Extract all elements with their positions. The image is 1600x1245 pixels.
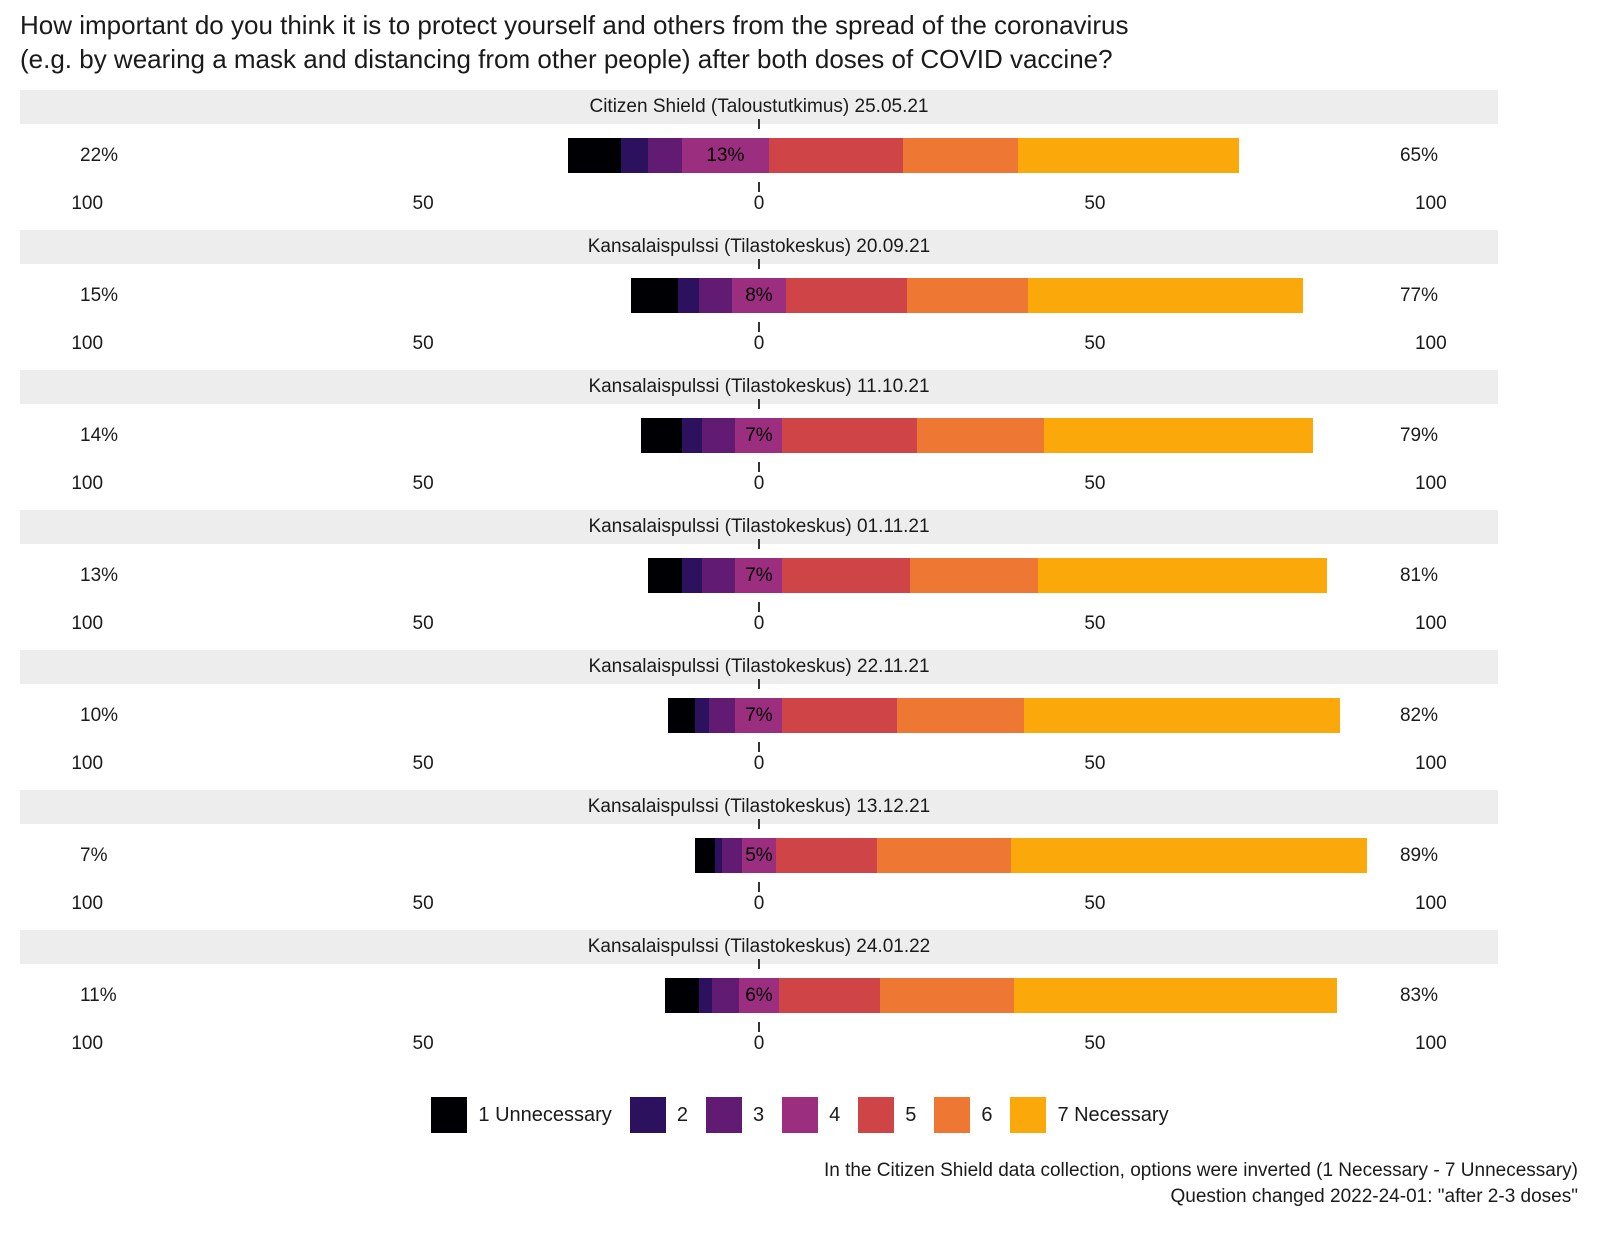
left-total-label: 10% [80,684,118,747]
bar-segment-label: 7% [735,558,782,593]
axis-tick-label: 0 [754,193,765,215]
bar-segment[interactable]: 7% [735,558,782,593]
legend-label: 5 [905,1104,916,1127]
bar-segment[interactable] [782,698,896,733]
footnote-line-1: In the Citizen Shield data collection, o… [18,1158,1578,1184]
bar-segment[interactable] [1044,418,1313,453]
bar-segment[interactable] [776,838,877,873]
legend-swatch [858,1097,894,1133]
bar-segment[interactable] [682,418,702,453]
bar-segment[interactable]: 13% [682,138,769,173]
legend-item[interactable]: 4 [782,1097,840,1133]
legend-swatch [630,1097,666,1133]
bar-segment[interactable] [568,138,622,173]
legend-label: 7 Necessary [1057,1104,1168,1127]
stacked-bar[interactable]: 5% [695,838,1367,873]
stacked-bar[interactable]: 7% [648,558,1326,593]
axis-tick-label: 50 [1084,1033,1105,1055]
axis-tick-label: 50 [413,333,434,355]
chart-root: How important do you think it is to prot… [0,0,1600,1245]
legend-label: 3 [753,1104,764,1127]
bar-segment[interactable] [907,278,1028,313]
left-total-label: 13% [80,544,118,607]
axis-tick-label: 100 [1415,333,1447,355]
bar-segment[interactable] [722,838,742,873]
axis-tick-label: 0 [754,333,765,355]
stacked-bar[interactable]: 7% [668,698,1340,733]
panel-plot-area: 5%7%89% [20,824,1498,887]
bar-segment[interactable] [910,558,1038,593]
bar-segment[interactable] [641,418,681,453]
panel-x-axis: 10050050100 [20,1027,1498,1067]
axis-tick-label: 100 [1415,473,1447,495]
axis-tick-label: 100 [1415,753,1447,775]
axis-tick-label: 50 [1084,893,1105,915]
bar-segment[interactable] [1028,278,1303,313]
bar-segment[interactable] [769,138,903,173]
panel-plot-area: 7%14%79% [20,404,1498,467]
axis-tick-label: 50 [413,613,434,635]
legend-label: 2 [677,1104,688,1127]
bar-segment[interactable] [1011,838,1367,873]
left-total-label: 14% [80,404,118,467]
panel-x-axis: 10050050100 [20,187,1498,227]
panel-list: Citizen Shield (Taloustutkimus) 25.05.21… [0,90,1600,1070]
axis-tick-label: 100 [1415,193,1447,215]
bar-segment-label: 7% [735,418,782,453]
page-title: How important do you think it is to prot… [20,8,1580,76]
panel-x-axis: 10050050100 [20,467,1498,507]
bar-segment[interactable] [631,278,678,313]
panel-x-axis: 10050050100 [20,887,1498,927]
bar-segment[interactable] [1038,558,1327,593]
bar-segment[interactable] [695,838,715,873]
axis-tick-label: 50 [413,473,434,495]
legend-item[interactable]: 6 [934,1097,992,1133]
bar-segment[interactable] [712,978,739,1013]
axis-tick-label: 100 [71,753,103,775]
bar-segment[interactable] [621,138,648,173]
axis-tick-label: 0 [754,613,765,635]
panel-x-axis: 10050050100 [20,327,1498,367]
zero-tick-top [758,819,760,829]
bar-segment[interactable] [897,698,1025,733]
bar-segment[interactable] [648,138,682,173]
panel-plot-area: 8%15%77% [20,264,1498,327]
right-total-label: 77% [1400,264,1438,327]
stacked-bar[interactable]: 6% [665,978,1337,1013]
bar-segment-label: 8% [732,278,786,313]
bar-segment[interactable] [877,838,1011,873]
legend-swatch [431,1097,467,1133]
bar-segment-label: 6% [739,978,779,1013]
legend-label: 6 [981,1104,992,1127]
axis-tick-label: 100 [71,333,103,355]
right-total-label: 83% [1400,964,1438,1027]
bar-segment[interactable] [786,278,907,313]
bar-segment[interactable] [695,698,708,733]
panel-plot-area: 13%22%65% [20,124,1498,187]
legend-item[interactable]: 2 [630,1097,688,1133]
bar-segment[interactable] [1014,978,1336,1013]
bar-segment-label: 5% [742,838,776,873]
legend-swatch [782,1097,818,1133]
legend-item[interactable]: 5 [858,1097,916,1133]
bar-segment[interactable]: 7% [735,698,782,733]
bar-segment-label: 7% [735,698,782,733]
legend-swatch [1010,1097,1046,1133]
zero-tick-top [758,959,760,969]
bar-segment[interactable] [782,558,910,593]
bar-segment[interactable] [917,418,1045,453]
bar-segment[interactable] [682,558,702,593]
axis-tick-label: 50 [1084,613,1105,635]
legend-label: 1 Unnecessary [478,1104,611,1127]
bar-segment[interactable] [715,838,722,873]
axis-tick-label: 100 [1415,893,1447,915]
right-total-label: 65% [1400,124,1438,187]
axis-tick-label: 50 [1084,753,1105,775]
zero-tick-top [758,679,760,689]
axis-tick-label: 100 [71,193,103,215]
zero-tick-top [758,259,760,269]
panel-x-axis: 10050050100 [20,747,1498,787]
stacked-bar[interactable]: 13% [568,138,1240,173]
axis-tick-label: 0 [754,1033,765,1055]
bar-segment[interactable]: 7% [735,418,782,453]
axis-tick-label: 50 [413,193,434,215]
axis-tick-label: 100 [71,473,103,495]
bar-segment[interactable] [782,418,916,453]
axis-tick-label: 100 [71,893,103,915]
axis-tick-label: 100 [71,1033,103,1055]
bar-segment[interactable] [779,978,880,1013]
zero-tick-top [758,399,760,409]
legend-item[interactable]: 1 Unnecessary [431,1097,611,1133]
bar-segment[interactable] [880,978,1014,1013]
bar-segment[interactable] [702,418,736,453]
axis-tick-label: 50 [1084,473,1105,495]
stacked-bar[interactable]: 7% [641,418,1313,453]
bar-segment[interactable] [699,978,712,1013]
axis-tick-label: 50 [413,1033,434,1055]
axis-tick-label: 50 [1084,333,1105,355]
legend-item[interactable]: 3 [706,1097,764,1133]
axis-tick-label: 0 [754,753,765,775]
bar-segment[interactable]: 6% [739,978,779,1013]
panel-plot-area: 6%11%83% [20,964,1498,1027]
right-total-label: 82% [1400,684,1438,747]
right-total-label: 89% [1400,824,1438,887]
axis-tick-label: 50 [413,753,434,775]
chart-panel: Kansalaispulssi (Tilastokeskus) 22.11.21… [0,650,1600,790]
chart-panel: Citizen Shield (Taloustutkimus) 25.05.21… [0,90,1600,230]
panel-plot-area: 7%13%81% [20,544,1498,607]
left-total-label: 22% [80,124,118,187]
bar-segment[interactable] [702,558,736,593]
footnote-line-2: Question changed 2022-24-01: "after 2-3 … [18,1184,1578,1210]
bar-segment-label: 13% [682,138,769,173]
zero-tick-top [758,119,760,129]
axis-tick-label: 100 [71,613,103,635]
stacked-bar[interactable]: 8% [631,278,1303,313]
chart-legend: 1 Unnecessary234567 Necessary [0,1092,1600,1138]
axis-tick-label: 100 [1415,1033,1447,1055]
bar-segment[interactable]: 8% [732,278,786,313]
legend-swatch [706,1097,742,1133]
bar-segment[interactable] [648,558,682,593]
legend-label: 4 [829,1104,840,1127]
axis-tick-label: 0 [754,893,765,915]
left-total-label: 11% [80,964,117,1027]
chart-panel: Kansalaispulssi (Tilastokeskus) 20.09.21… [0,230,1600,370]
right-total-label: 81% [1400,544,1438,607]
bar-segment[interactable] [668,698,695,733]
axis-tick-label: 50 [1084,193,1105,215]
bar-segment[interactable] [1024,698,1340,733]
chart-panel: Kansalaispulssi (Tilastokeskus) 24.01.22… [0,930,1600,1070]
left-total-label: 15% [80,264,118,327]
axis-tick-label: 50 [413,893,434,915]
chart-panel: Kansalaispulssi (Tilastokeskus) 11.10.21… [0,370,1600,510]
chart-panel: Kansalaispulssi (Tilastokeskus) 13.12.21… [0,790,1600,930]
legend-item[interactable]: 7 Necessary [1010,1097,1168,1133]
legend-swatch [934,1097,970,1133]
bar-segment[interactable] [678,278,698,313]
panel-x-axis: 10050050100 [20,607,1498,647]
panel-plot-area: 7%10%82% [20,684,1498,747]
bar-segment[interactable] [1018,138,1240,173]
bar-segment[interactable]: 5% [742,838,776,873]
bar-segment[interactable] [709,698,736,733]
chart-footnotes: In the Citizen Shield data collection, o… [18,1158,1578,1210]
axis-tick-label: 100 [1415,613,1447,635]
bar-segment[interactable] [903,138,1017,173]
left-total-label: 7% [80,824,107,887]
bar-segment[interactable] [665,978,699,1013]
zero-tick-top [758,539,760,549]
right-total-label: 79% [1400,404,1438,467]
axis-tick-label: 0 [754,473,765,495]
bar-segment[interactable] [699,278,733,313]
chart-panel: Kansalaispulssi (Tilastokeskus) 01.11.21… [0,510,1600,650]
